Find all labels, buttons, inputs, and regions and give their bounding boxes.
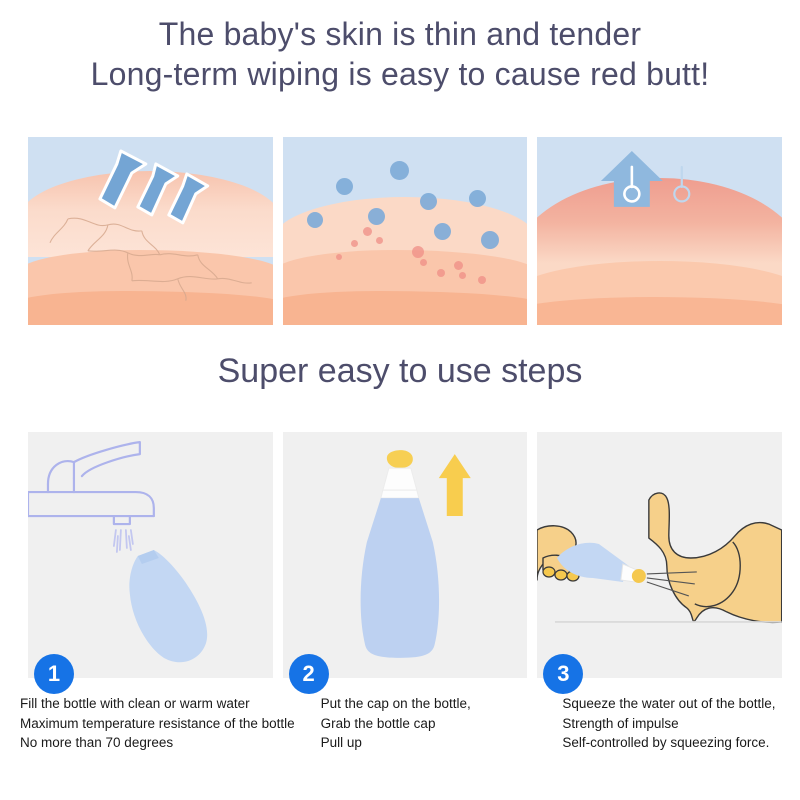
step-panel-1: 1 (28, 432, 273, 678)
steps-group: 1 2 (28, 432, 782, 678)
step-badge-3: 3 (543, 654, 583, 694)
caption-line: Put the cap on the bottle, (321, 694, 541, 714)
caption-line: Self-controlled by squeezing force. (562, 733, 782, 753)
headline-line-1: The baby's skin is thin and tender (0, 14, 800, 54)
step-captions-group: Fill the bottle with clean or warm water… (18, 694, 782, 753)
cracked-skin-panel (28, 137, 273, 325)
step-caption-3: Squeeze the water out of the bottle, Str… (550, 694, 782, 753)
nozzle-cap (632, 569, 646, 583)
step-1-illustration (28, 432, 273, 678)
bottle-shape (129, 550, 207, 662)
page-headline: The baby's skin is thin and tender Long-… (0, 14, 800, 94)
problem-panel-group (28, 137, 782, 325)
step-2-illustration (283, 432, 528, 678)
caption-line: Squeeze the water out of the bottle, (562, 694, 782, 714)
bacteria-panel (283, 137, 528, 325)
headline-line-2: Long-term wiping is easy to cause red bu… (0, 54, 800, 94)
down-arrows-icon (28, 137, 273, 325)
caption-line: Strength of impulse (562, 714, 782, 734)
up-arrow-icon (438, 454, 470, 516)
thermometer-up-arrow-icon (537, 137, 782, 325)
caption-line: Grab the bottle cap (321, 714, 541, 734)
hand-squeezing-bottle-icon (537, 432, 782, 678)
skin-deep-layer (283, 291, 528, 325)
step-panel-2: 2 (283, 432, 528, 678)
step-badge-1: 1 (34, 654, 74, 694)
bottle-cap (387, 450, 413, 468)
caption-line: Fill the bottle with clean or warm water (20, 694, 295, 714)
temperature-panel (537, 137, 782, 325)
step-badge-2: 2 (289, 654, 329, 694)
caption-line: Pull up (321, 733, 541, 753)
step-caption-2: Put the cap on the bottle, Grab the bott… (305, 694, 541, 753)
step-3-illustration (537, 432, 782, 678)
caption-line: Maximum temperature resistance of the bo… (20, 714, 295, 734)
bottle-with-cap-up-arrow-icon (283, 432, 528, 678)
step-panel-3: 3 (537, 432, 782, 678)
step-caption-1: Fill the bottle with clean or warm water… (18, 694, 295, 753)
faucet-filling-bottle-icon (28, 432, 273, 678)
section-title: Super easy to use steps (0, 352, 800, 391)
caption-line: No more than 70 degrees (20, 733, 295, 753)
bottle-shape (360, 498, 438, 658)
